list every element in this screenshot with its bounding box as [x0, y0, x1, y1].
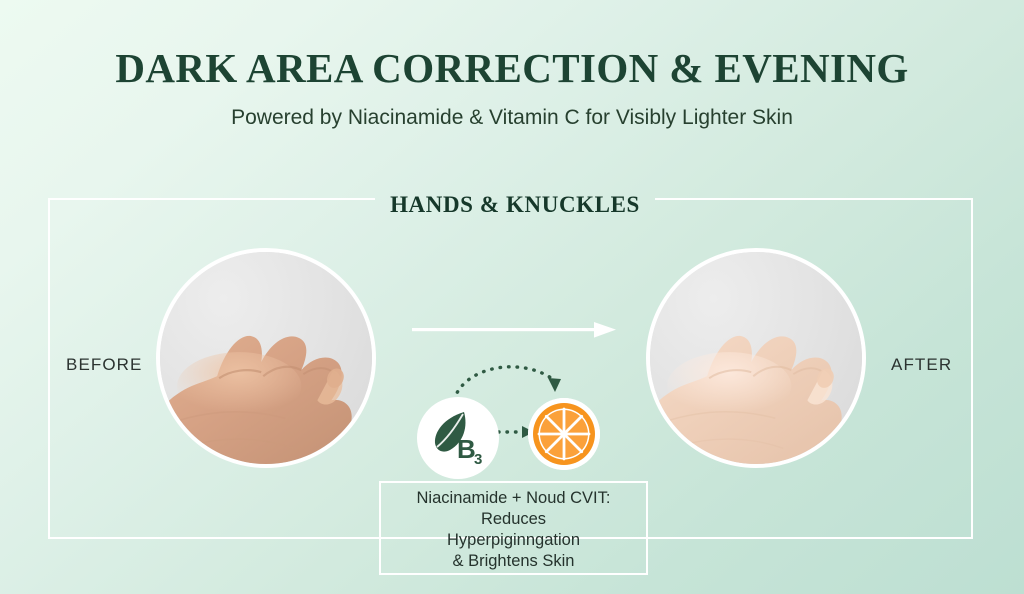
before-photo-backdrop [160, 252, 372, 464]
svg-text:3: 3 [474, 451, 482, 468]
benefit-line-1: Niacinamide + Noud CVIT: [417, 488, 611, 508]
after-label: AFTER [891, 355, 952, 375]
after-photo [646, 248, 866, 468]
benefit-line-4: & Brightens Skin [453, 551, 575, 571]
page-title: DARK AREA CORRECTION & EVENING [0, 44, 1024, 92]
before-photo [156, 248, 376, 468]
frame-border-right [971, 198, 973, 539]
ingredient-badge-niacinamide[interactable]: B 3 [420, 400, 496, 476]
ingredient-badge-vitamin-c[interactable] [528, 398, 600, 470]
frame-border-left [48, 198, 50, 539]
benefit-callout-box: Niacinamide + Noud CVIT: Reduces Hyperpi… [379, 481, 648, 575]
frame-border-top-right [655, 198, 973, 200]
frame-border-top-left [48, 198, 375, 200]
hand-illustration-before [156, 290, 368, 468]
benefit-line-2: Reduces [481, 509, 546, 529]
after-photo-backdrop [650, 252, 862, 464]
page-subtitle: Powered by Niacinamide & Vitamin C for V… [0, 106, 1024, 130]
section-title: HANDS & KNUCKLES [375, 192, 655, 218]
before-label: BEFORE [66, 355, 143, 375]
infographic-canvas: DARK AREA CORRECTION & EVENING Powered b… [0, 0, 1024, 594]
svg-text:B: B [457, 434, 476, 464]
transition-arrow-icon [410, 316, 620, 344]
orange-slice-icon [533, 403, 595, 465]
benefit-line-3: Hyperpiginngation [447, 530, 580, 550]
hand-illustration-after [646, 290, 858, 468]
